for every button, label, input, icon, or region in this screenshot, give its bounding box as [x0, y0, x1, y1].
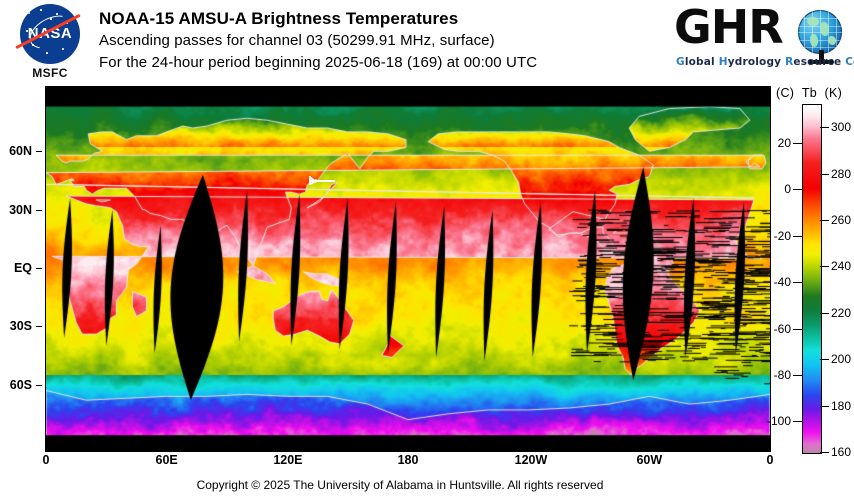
colorbar-tick-k — [820, 266, 829, 267]
ghrc-wordmark: GHR — [674, 4, 783, 50]
colorbar-header: (C) Tb (K) — [776, 86, 854, 100]
ghrc-tagline: Global Hydrology Resource Center — [676, 56, 854, 68]
colorbar-tick-c — [793, 329, 802, 330]
colorbar-label-kelvin: 200 — [831, 354, 851, 365]
colorbar-label-celsius: -60 — [751, 324, 791, 335]
nasa-logo: NASA MSFC — [10, 4, 90, 82]
colorbar-tick-k — [820, 452, 829, 453]
page-subtitle: Ascending passes for channel 03 (50299.9… — [99, 30, 537, 52]
colorbar-tick-c — [793, 421, 802, 422]
x-tick-label: 0 — [32, 454, 60, 466]
y-tick — [36, 210, 42, 211]
colorbar-label-kelvin: 160 — [831, 447, 851, 458]
y-tick — [36, 385, 42, 386]
brightness-temperature-map[interactable] — [46, 93, 770, 443]
y-tick-label: 30S — [10, 320, 32, 332]
title-block: NOAA-15 AMSU-A Brightness Temperatures A… — [99, 8, 537, 74]
colorbar-label-celsius: -80 — [751, 370, 791, 381]
colorbar-left-unit: (C) — [776, 86, 794, 100]
y-tick — [36, 151, 42, 152]
y-tick — [36, 268, 42, 269]
copyright-notice: Copyright © 2025 The University of Alaba… — [0, 478, 800, 492]
colorbar-tick-k — [820, 313, 829, 314]
x-tick-label: 120W — [515, 454, 543, 466]
colorbar-label-celsius: -100 — [751, 416, 791, 427]
colorbar: (C) Tb (K) 300280260240220200180160200-2… — [776, 86, 854, 466]
y-tick-label: 60S — [10, 379, 32, 391]
colorbar-label-kelvin: 220 — [831, 308, 851, 319]
globe-icon — [798, 10, 842, 54]
x-tick-label: 60W — [635, 454, 663, 466]
colorbar-label-celsius: 20 — [751, 138, 791, 149]
colorbar-label-kelvin: 300 — [831, 122, 851, 133]
y-tick-label: 30N — [9, 204, 32, 216]
colorbar-tick-k — [820, 127, 829, 128]
colorbar-tick-c — [793, 143, 802, 144]
y-tick — [36, 326, 42, 327]
x-tick-label: 120E — [273, 454, 301, 466]
colorbar-tick-k — [820, 220, 829, 221]
y-tick-label: 60N — [9, 145, 32, 157]
colorbar-variable: Tb — [802, 86, 817, 100]
y-axis: 60N30NEQ30S60S — [0, 86, 42, 452]
page-title: NOAA-15 AMSU-A Brightness Temperatures — [99, 8, 537, 30]
colorbar-label-kelvin: 180 — [831, 401, 851, 412]
colorbar-tick-k — [820, 359, 829, 360]
colorbar-label-kelvin: 240 — [831, 261, 851, 272]
colorbar-label-kelvin: 280 — [831, 169, 851, 180]
x-axis: 060E120E180120W60W0 — [0, 452, 854, 472]
colorbar-tick-c — [793, 375, 802, 376]
x-tick-label: 180 — [394, 454, 422, 466]
colorbar-label-celsius: 0 — [751, 184, 791, 195]
ghrc-logo: GHR Global Hydrology Resource Center — [674, 2, 846, 78]
nasa-meatball-icon: NASA — [20, 4, 80, 64]
colorbar-gradient — [802, 104, 822, 454]
colorbar-tick-c — [793, 282, 802, 283]
page-period: For the 24-hour period beginning 2025-06… — [99, 52, 537, 74]
map-plot-area[interactable] — [45, 86, 771, 452]
colorbar-tick-c — [793, 236, 802, 237]
colorbar-label-celsius: -20 — [751, 231, 791, 242]
x-tick-label: 60E — [153, 454, 181, 466]
colorbar-right-unit: (K) — [825, 86, 843, 100]
colorbar-label-kelvin: 260 — [831, 215, 851, 226]
colorbar-tick-c — [793, 189, 802, 190]
plot-page: NASA MSFC NOAA-15 AMSU-A Brightness Temp… — [0, 0, 854, 502]
colorbar-tick-k — [820, 174, 829, 175]
msfc-label: MSFC — [10, 66, 90, 80]
y-tick-label: EQ — [14, 262, 32, 274]
colorbar-label-celsius: -40 — [751, 277, 791, 288]
colorbar-tick-k — [820, 406, 829, 407]
map-canvas-clip — [46, 93, 770, 443]
left-arrow-marker-icon — [309, 176, 335, 185]
